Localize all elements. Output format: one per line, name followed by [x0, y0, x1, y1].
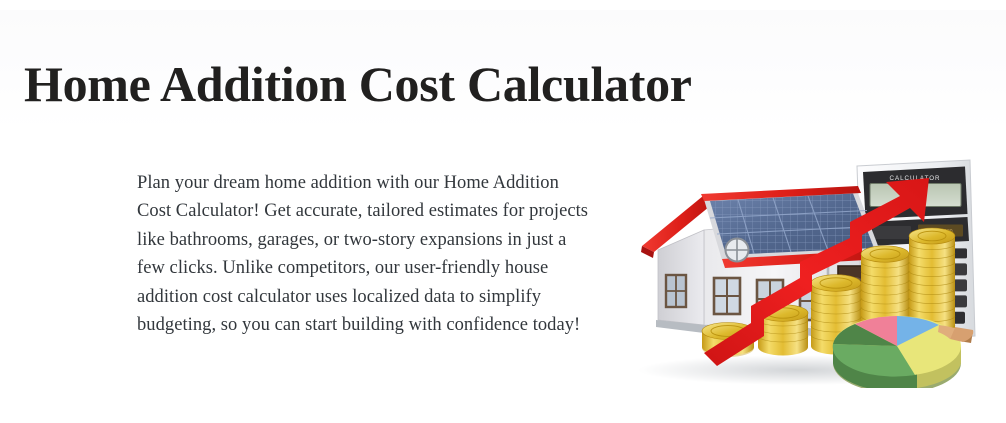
page-root: Home Addition Cost Calculator Plan your …	[0, 0, 1006, 423]
page-title: Home Addition Cost Calculator	[24, 53, 692, 115]
top-strip	[0, 0, 1006, 10]
intro-paragraph: Plan your dream home addition with our H…	[137, 169, 589, 340]
hero-illustration: CALCULATOR 00.00.0000	[618, 138, 983, 388]
